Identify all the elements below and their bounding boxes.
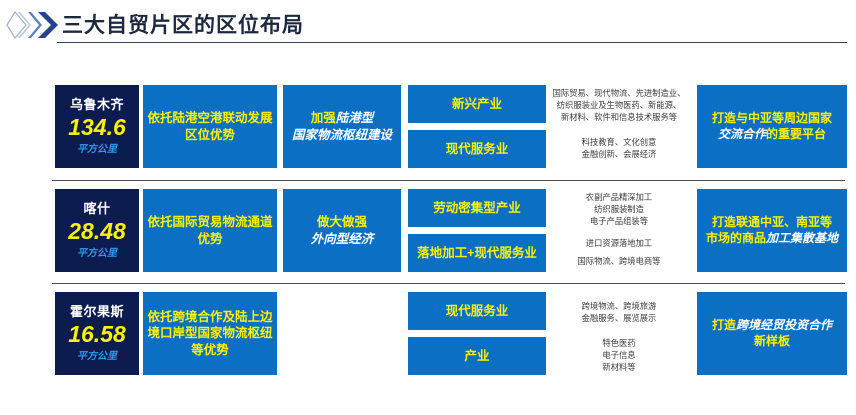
industry-box-secondary[interactable]: 现代服务业 [408, 130, 546, 168]
direction-line1: 加强 [311, 111, 336, 125]
industry-detail-secondary: 科技教育、文化创意 金融创新、会展经济 [548, 128, 690, 168]
industry-label: 劳动密集型产业 [433, 200, 521, 217]
goal-box[interactable]: 打造联通中亚、南亚等 市场的商品加工集散基地 [697, 189, 847, 272]
goal-box[interactable]: 打造与中亚等周边国家 交流合作的重要平台 [697, 85, 847, 168]
chevron-group-icon [6, 10, 62, 40]
industry-box-secondary[interactable]: 产业 [408, 337, 546, 375]
city-block-urumqi[interactable]: 乌鲁木齐 134.6 平方公里 [55, 85, 139, 168]
region-row-horgos: 霍尔果斯 16.58 平方公里 依托跨境合作及陆上边境口岸型国家物流枢纽等优势 … [0, 292, 856, 375]
direction-box[interactable]: 加强陆港型 国家物流枢纽建设 [283, 85, 401, 168]
city-name: 霍尔果斯 [70, 303, 124, 320]
industry-label: 落地加工+现代服务业 [417, 245, 537, 262]
industry-label: 新兴产业 [452, 96, 502, 113]
advantage-box[interactable]: 依托国际贸易物流通道优势 [143, 189, 277, 272]
city-area-value: 16.58 [68, 322, 126, 348]
city-area-unit: 平方公里 [77, 143, 117, 156]
detail-line: 农副产品精深加工 [586, 191, 652, 203]
detail-line: 特色医药 [602, 337, 635, 349]
industry-label: 现代服务业 [446, 303, 509, 320]
city-block-kashgar[interactable]: 喀什 28.48 平方公里 [55, 189, 139, 272]
goal-text: 打造联通中亚、南亚等 市场的商品加工集散基地 [706, 215, 838, 247]
region-row-urumqi: 乌鲁木齐 134.6 平方公里 依托陆港空港联动发展区位优势 加强陆港型 国家物… [0, 85, 856, 168]
city-name: 喀什 [83, 200, 110, 217]
advantage-box[interactable]: 依托陆港空港联动发展区位优势 [143, 85, 277, 168]
industry-box-secondary[interactable]: 落地加工+现代服务业 [408, 234, 546, 272]
goal-line1: 打造联通中亚、南亚等 [712, 215, 832, 229]
advantage-box[interactable]: 依托跨境合作及陆上边境口岸型国家物流枢纽等优势 [143, 292, 277, 375]
city-area-value: 134.6 [68, 115, 126, 141]
row-divider-1 [52, 180, 845, 181]
advantage-text: 依托跨境合作及陆上边境口岸型国家物流枢纽等优势 [143, 309, 277, 359]
direction-line2: 国家物流枢纽建设 [292, 128, 392, 142]
goal-text: 打造跨境经贸投资合作 新样板 [712, 318, 832, 350]
industry-detail-secondary: 进口资源落地加工 国际物流、跨境电商等 [548, 232, 690, 272]
detail-line: 跨境物流、跨境旅游 [582, 300, 657, 312]
detail-line: 科技教育、文化创意 [582, 136, 657, 148]
direction-line1-tail: 陆港型 [336, 111, 374, 125]
direction-text: 做大做强 外向型经济 [311, 214, 374, 247]
advantage-text: 依托国际贸易物流通道优势 [143, 214, 277, 247]
industry-detail-primary: 农副产品精深加工 纺织服装制造 电子产品组装等 [548, 189, 690, 229]
detail-line: 进口资源落地加工 [578, 237, 661, 249]
goal-highlight: 跨境经贸投资合作 [736, 318, 832, 332]
page-header: 三大自贸片区的区位布局 [0, 0, 856, 52]
goal-line1: 打造与中亚等周边国家 [712, 111, 832, 125]
detail-line: 新材料、软件和信息技术服务等 [553, 111, 686, 123]
direction-line2: 外向型经济 [311, 232, 374, 246]
detail-line: 纺织服装业及生物医药、新能源、 [553, 99, 686, 111]
title-underline [57, 42, 847, 43]
industry-detail-primary: 跨境物流、跨境旅游 金融服务、展览展示 [548, 292, 690, 332]
industry-box-primary[interactable]: 新兴产业 [408, 85, 546, 123]
detail-line: 金融服务、展览展示 [582, 312, 657, 324]
detail-line: 电子信息 [602, 349, 635, 361]
detail-line: 纺织服装制造 [586, 203, 652, 215]
industry-label: 现代服务业 [446, 141, 509, 158]
goal-box[interactable]: 打造跨境经贸投资合作 新样板 [697, 292, 847, 375]
city-block-horgos[interactable]: 霍尔果斯 16.58 平方公里 [55, 292, 139, 375]
page-title: 三大自贸片区的区位布局 [62, 9, 304, 39]
city-area-unit: 平方公里 [77, 247, 117, 260]
city-area-value: 28.48 [68, 219, 126, 245]
goal-highlight: 交流合作 [718, 127, 766, 141]
goal-highlight: 加工集散基地 [766, 231, 838, 245]
goal-line2: 新样板 [754, 334, 790, 348]
advantage-text: 依托陆港空港联动发展区位优势 [143, 110, 277, 143]
detail-line: 国际贸易、现代物流、先进制造业、 [553, 87, 686, 99]
direction-line1: 做大做强 [317, 215, 367, 229]
industry-detail-primary: 国际贸易、现代物流、先进制造业、 纺织服装业及生物医药、新能源、 新材料、软件和… [548, 85, 690, 125]
direction-box[interactable]: 做大做强 外向型经济 [283, 189, 401, 272]
goal-text: 打造与中亚等周边国家 交流合作的重要平台 [712, 111, 832, 143]
industry-label: 产业 [464, 348, 489, 365]
direction-text: 加强陆港型 国家物流枢纽建设 [292, 110, 392, 143]
goal-line2-head: 市场的商品 [706, 231, 766, 245]
industry-box-primary[interactable]: 劳动密集型产业 [408, 189, 546, 227]
detail-line: 电子产品组装等 [586, 215, 652, 227]
city-name: 乌鲁木齐 [70, 96, 124, 113]
industry-box-primary[interactable]: 现代服务业 [408, 292, 546, 330]
region-row-kashgar: 喀什 28.48 平方公里 依托国际贸易物流通道优势 做大做强 外向型经济 劳动… [0, 189, 856, 272]
goal-line2-tail: 的重要平台 [766, 127, 826, 141]
detail-line: 国际物流、跨境电商等 [578, 255, 661, 267]
row-divider-2 [52, 283, 845, 284]
goal-line1-head: 打造 [712, 318, 736, 332]
industry-detail-secondary: 特色医药 电子信息 新材料等 [548, 335, 690, 375]
detail-line: 金融创新、会展经济 [582, 148, 657, 160]
city-area-unit: 平方公里 [77, 350, 117, 363]
detail-line: 新材料等 [602, 361, 635, 373]
